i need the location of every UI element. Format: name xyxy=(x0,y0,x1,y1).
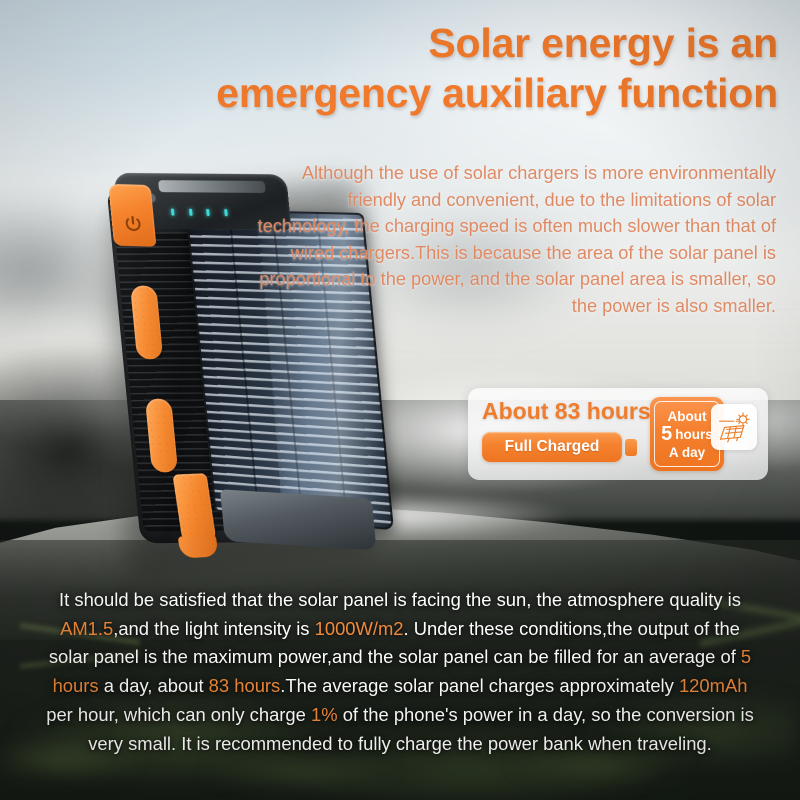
product-marketing-poster: Solar energy is an emergency auxiliary f… xyxy=(0,0,800,800)
battery-label: Full Charged xyxy=(505,438,600,456)
vignette-overlay xyxy=(0,0,800,800)
